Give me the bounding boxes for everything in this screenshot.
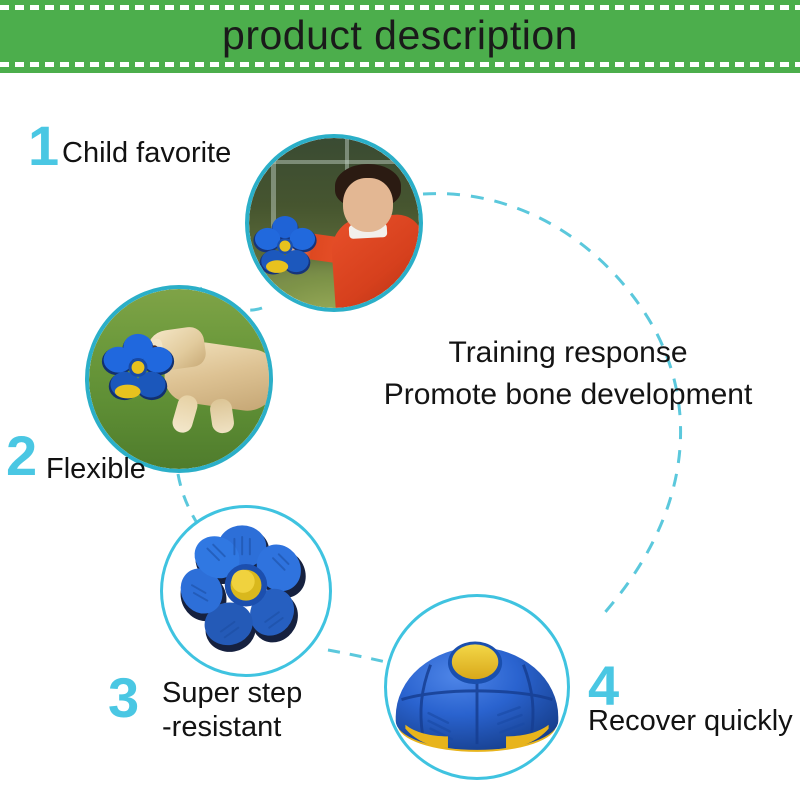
feature-image-recover-quickly	[384, 594, 570, 780]
feature-image-child-favorite	[245, 134, 423, 312]
held-flower-disc-icon	[249, 216, 325, 284]
callout-label-3: Super step -resistant	[162, 676, 302, 744]
feature-image-flexible	[85, 285, 273, 473]
center-text-line2: Promote bone development	[338, 374, 798, 416]
photo-boy-throwing-disc	[249, 138, 419, 308]
illustration-dome-ball	[387, 597, 567, 777]
boy-head	[343, 178, 393, 232]
callout-label-3-line1: Super step	[162, 676, 302, 710]
product-description-infographic: product description	[0, 0, 800, 800]
callout-label-2: Flexible	[46, 452, 146, 486]
header-banner: product description	[0, 0, 800, 73]
banner-dashed-line-bottom	[0, 62, 800, 67]
flying-flower-disc-icon	[95, 333, 181, 407]
callout-number-1: 1	[28, 118, 59, 174]
callout-number-3: 3	[108, 670, 139, 726]
callout-number-2: 2	[6, 428, 37, 484]
callout-label-4: Recover quickly	[588, 704, 793, 738]
callout-label-1: Child favorite	[62, 136, 231, 170]
feature-image-super-step-resistant	[160, 505, 332, 677]
fence-rail	[271, 160, 401, 164]
photo-dog-chasing-disc	[89, 289, 269, 469]
illustration-flat-flower-disc	[163, 508, 329, 674]
page-title: product description	[0, 10, 800, 60]
center-benefit-text: Training response Promote bone developme…	[338, 332, 798, 416]
center-text-line1: Training response	[338, 332, 798, 374]
callout-label-3-line2: -resistant	[162, 710, 302, 744]
connector-arc-three-four	[328, 650, 386, 662]
